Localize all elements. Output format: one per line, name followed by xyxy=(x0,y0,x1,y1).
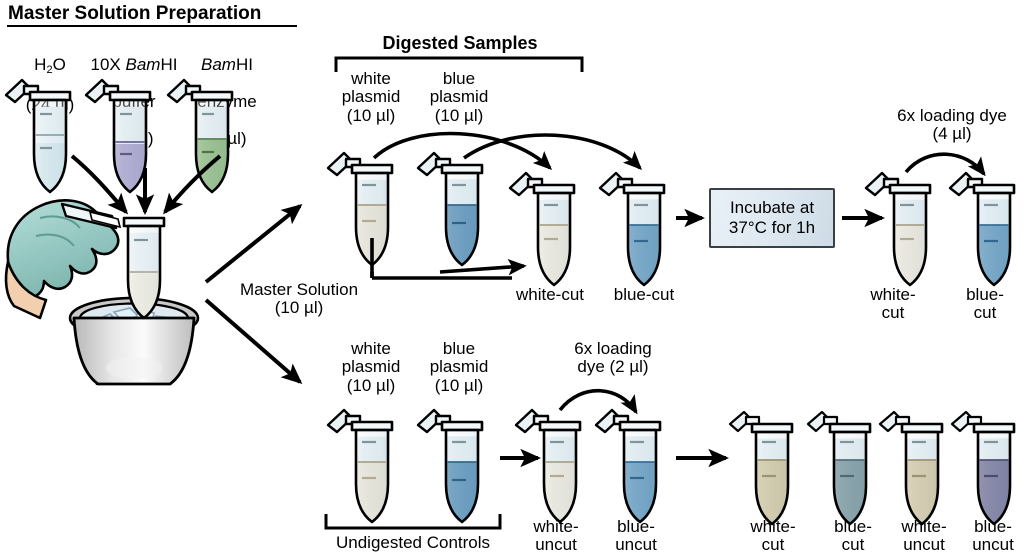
label-loading-dye-bottom: 6x loading dye (2 µl) xyxy=(550,340,676,377)
arrow-enzyme-to-master xyxy=(165,156,220,212)
label-final-blue-cut: blue- cut xyxy=(818,518,888,555)
label-ice-bucket: Ice bucket xyxy=(78,371,188,389)
tube-final-blue-cut xyxy=(808,412,870,528)
tube-final-white-uncut xyxy=(880,412,942,528)
tube-white-plasmid-digested xyxy=(328,153,392,269)
arrow-master-elbow-to-cut xyxy=(372,272,512,278)
label-final-white-cut: white- cut xyxy=(736,518,810,555)
page-title-underline xyxy=(7,25,297,27)
master-solution-tube xyxy=(124,218,164,322)
label-white-uncut: white- uncut xyxy=(518,518,594,555)
gloved-hand xyxy=(6,200,120,318)
arrow-loading-dye-bottom xyxy=(560,391,636,412)
arrow-master-to-digested xyxy=(206,206,300,282)
tube-white-plasmid-undigested xyxy=(328,410,392,526)
tube-final-blue-uncut xyxy=(952,412,1014,528)
tube-blue-uncut xyxy=(596,410,660,526)
label-white-plasmid-digested: white plasmid (10 µl) xyxy=(328,70,414,125)
reagent-label-bamhi-enzyme: BamHI enzyme (3 µl) xyxy=(178,38,276,148)
label-blue-cut-final-top: blue- cut xyxy=(950,286,1020,323)
page-title: Master Solution Preparation xyxy=(8,3,261,25)
label-blue-plasmid-digested: blue plasmid (10 µl) xyxy=(416,70,502,125)
label-final-white-uncut: white- uncut xyxy=(884,518,964,555)
tube-blue-plasmid-digested xyxy=(418,153,482,269)
tube-blue-cut xyxy=(600,173,664,289)
arrow-water-to-master xyxy=(72,156,126,212)
arrow-white-plasmid-to-white-cut xyxy=(374,134,550,168)
reagent-label-water: H2O (24 µl) xyxy=(5,38,95,114)
label-blue-plasmid-undigested: blue plasmid (10 µl) xyxy=(416,340,502,395)
section-header-digested: Digested Samples xyxy=(340,34,580,53)
label-white-plasmid-undigested: white plasmid (10 µl) xyxy=(328,340,414,395)
water-volume: (24 µl) xyxy=(26,95,75,114)
bracket-undigested-controls xyxy=(326,514,500,528)
label-white-cut: white-cut xyxy=(500,286,600,304)
label-blue-uncut: blue- uncut xyxy=(598,518,674,555)
label-white-cut-final-top: white- cut xyxy=(858,286,928,323)
tube-white-cut xyxy=(510,173,574,289)
incubate-step-box: Incubate at 37°C for 1h xyxy=(709,188,835,248)
tube-white-uncut xyxy=(516,410,580,526)
tube-white-cut-post-incubation xyxy=(866,173,930,289)
arrow-blue-plasmid-to-blue-cut xyxy=(464,135,640,168)
label-master-solution: Master Solution (10 µl) xyxy=(222,281,376,318)
protocol-diagram: Master Solution Preparation H2O (24 µl) … xyxy=(0,0,1024,559)
label-final-blue-uncut: blue- uncut xyxy=(962,518,1024,555)
water-formula: H2O xyxy=(34,55,66,74)
label-loading-dye-top: 6x loading dye (4 µl) xyxy=(882,107,1022,144)
arrow-loading-dye-top xyxy=(906,154,984,174)
label-blue-cut: blue-cut xyxy=(600,286,688,304)
tube-blue-cut-post-incubation xyxy=(950,173,1014,289)
section-header-undigested: Undigested Controls xyxy=(316,534,510,552)
tube-final-white-cut xyxy=(730,412,792,528)
tube-blue-plasmid-undigested xyxy=(418,410,482,526)
reagent-label-bamhi-buffer: 10X BamHI buffer (3 µl) xyxy=(85,38,183,148)
ice-cubes xyxy=(96,308,172,334)
arrow-master-elbow-head xyxy=(440,266,524,272)
